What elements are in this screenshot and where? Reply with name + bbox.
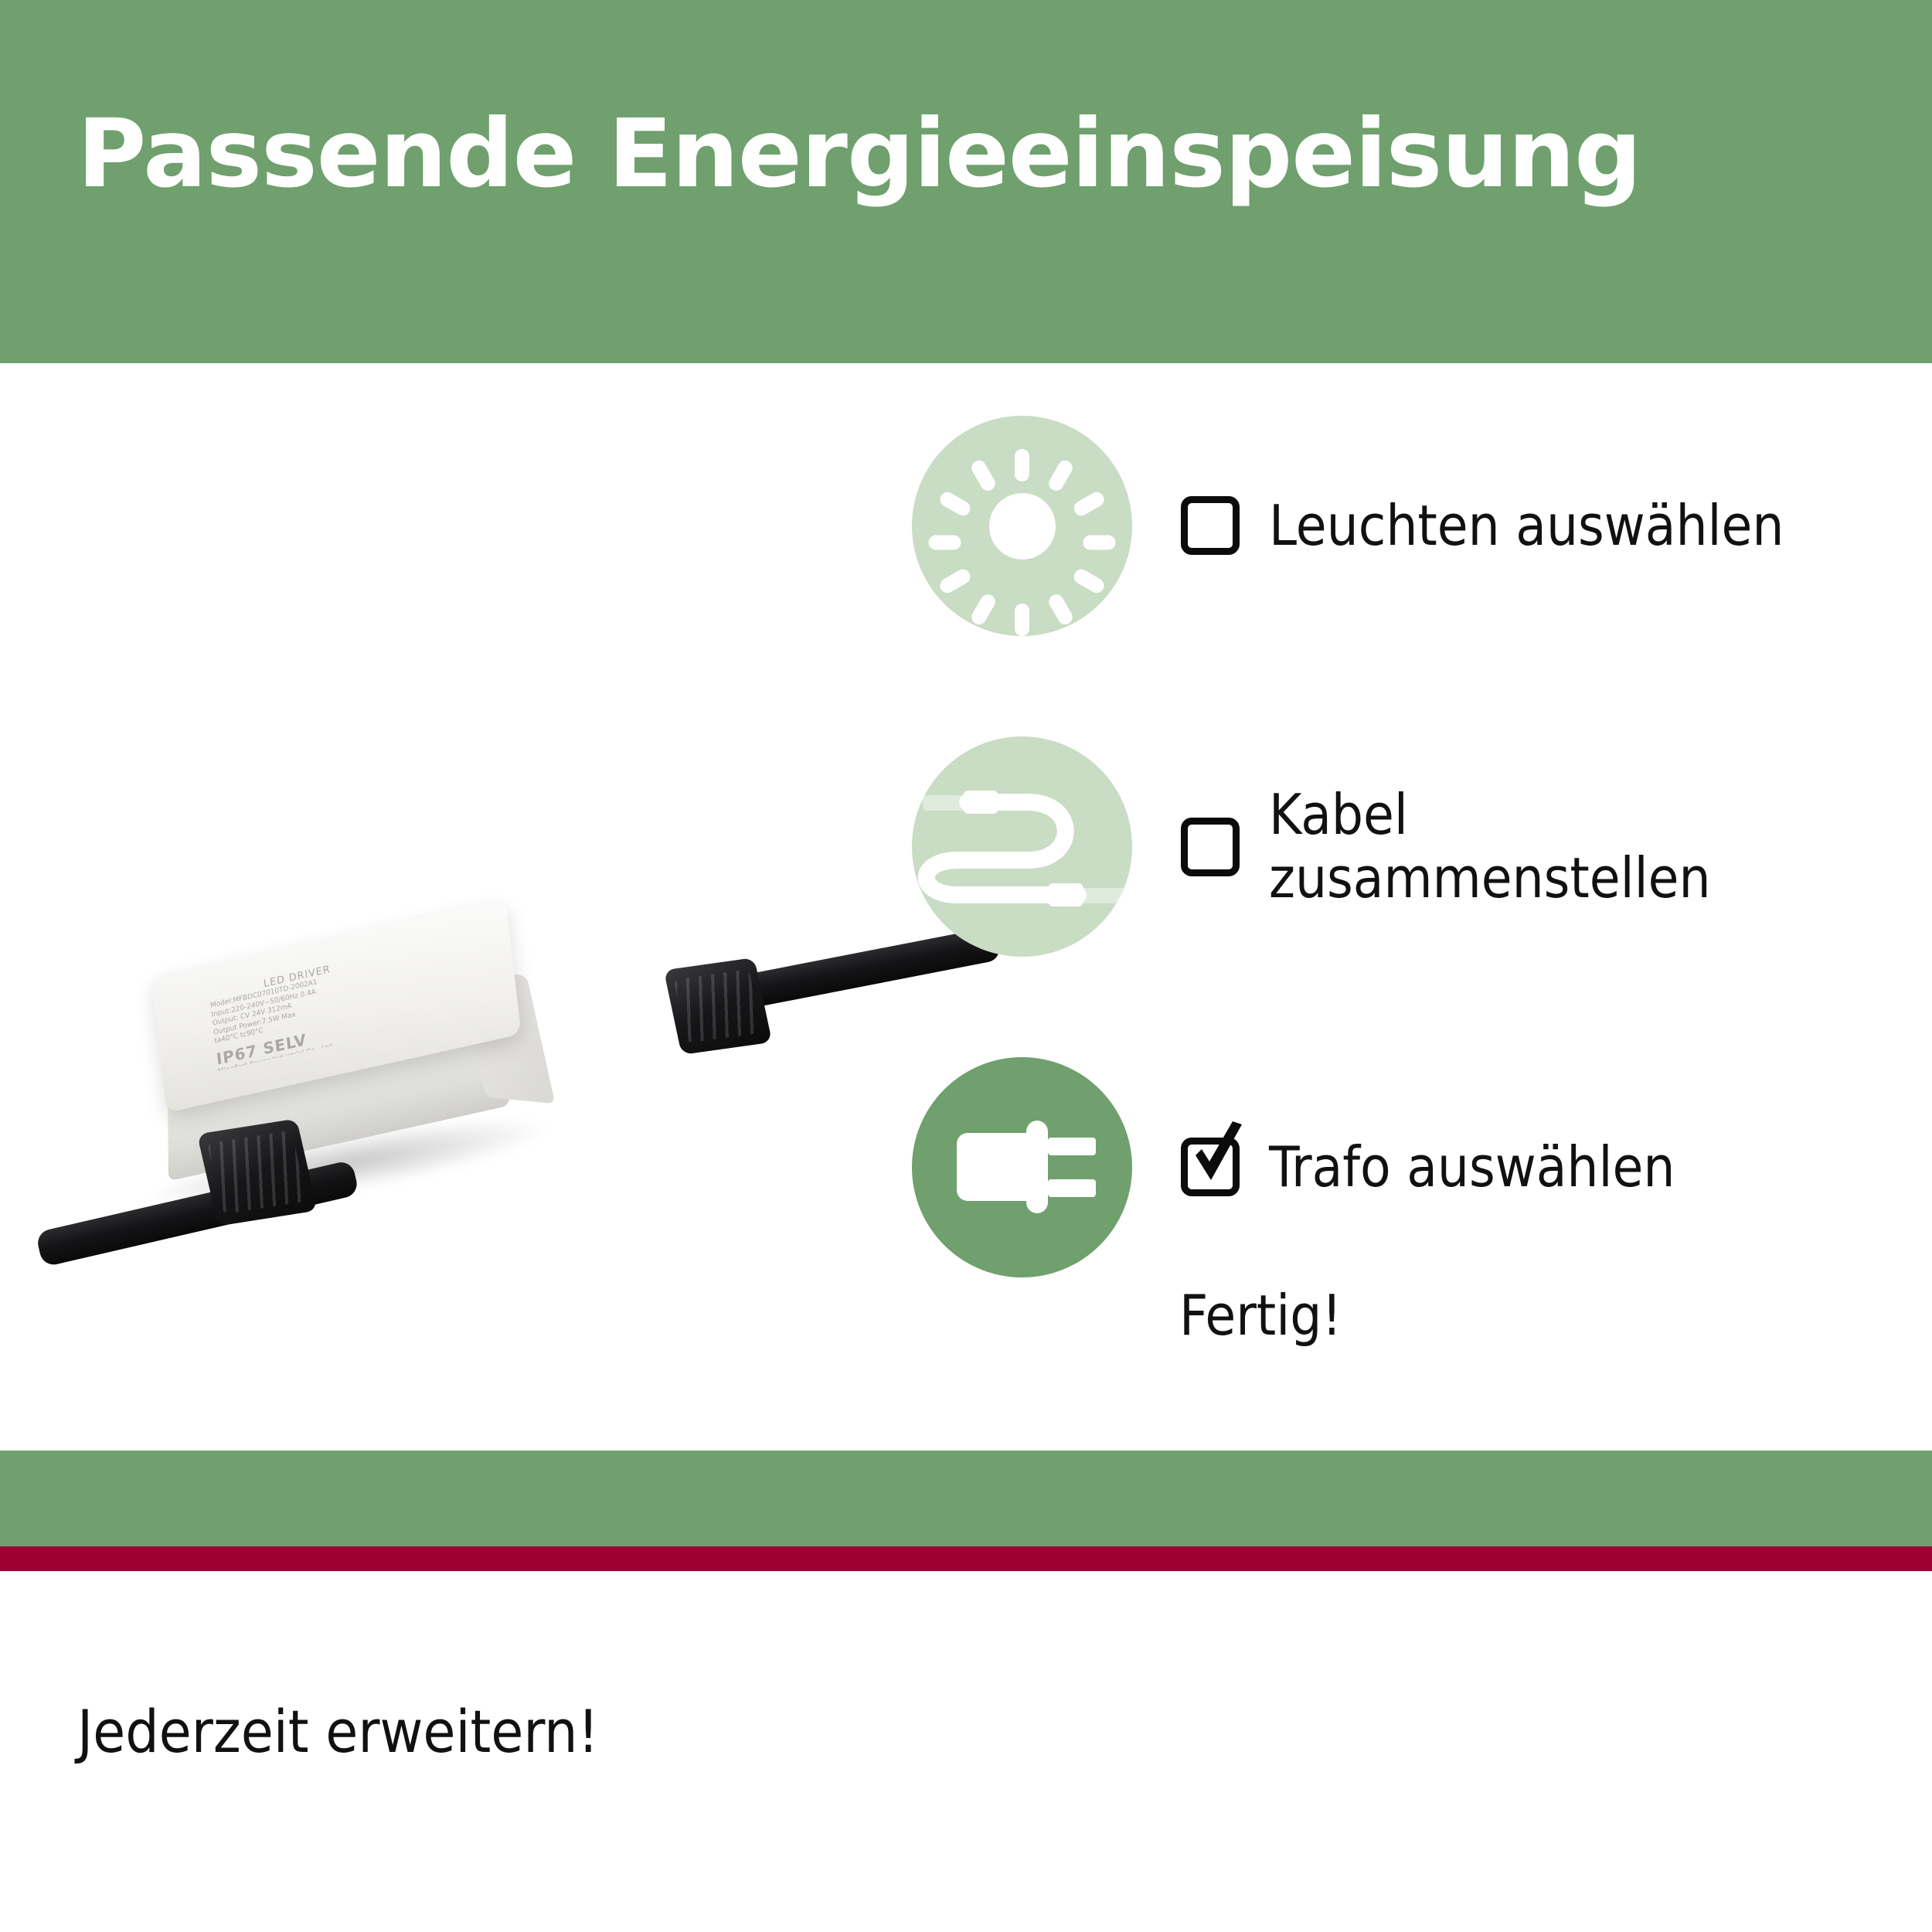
checkbox-leuchten[interactable] <box>1181 496 1240 555</box>
cable-icon-svg <box>912 736 1132 957</box>
step-row-leuchten: Leuchten auswählen <box>912 416 1901 636</box>
sun-ray <box>969 591 998 627</box>
step-row-trafo: Trafo auswählen <box>912 1057 1901 1277</box>
plug-neck <box>1026 1121 1048 1213</box>
sun-ray <box>1046 457 1075 493</box>
plug-icon <box>912 1057 1132 1277</box>
header-band: Passende Energieeinspeisung <box>0 0 1932 363</box>
sun-ray <box>1083 535 1116 549</box>
plug-pin-top <box>1048 1138 1096 1155</box>
step-right-leuchten: Leuchten auswählen <box>1181 495 1784 557</box>
sun-ray <box>1015 449 1029 481</box>
footer-text: Jederzeit erweitern! <box>77 1697 599 1766</box>
strain-relief-fins-right <box>674 969 763 1043</box>
plug-pin-bottom <box>1048 1179 1096 1197</box>
sun-ray <box>1046 591 1075 627</box>
strain-relief-left <box>197 1118 318 1226</box>
strain-relief-fins-left <box>207 1131 308 1215</box>
sun-ray <box>937 489 973 518</box>
product-photo: LED DRIVER Model:MFBDC07010TD-2002A1 Inp… <box>0 904 912 1275</box>
sun-ray <box>1015 604 1029 636</box>
footer-green-band <box>0 1451 1932 1546</box>
strain-relief-right <box>664 957 772 1055</box>
step-label-leuchten: Leuchten auswählen <box>1269 495 1784 557</box>
step-label-trafo: Trafo auswählen <box>1269 1136 1675 1199</box>
page-title: Passende Energieeinspeisung <box>77 107 1641 201</box>
steps-list: Leuchten auswählen <box>912 416 1901 1378</box>
step-label-kabel: Kabel zusammenstellen <box>1269 784 1711 910</box>
sun-icon <box>912 416 1132 636</box>
checkbox-kabel[interactable] <box>1181 818 1240 876</box>
cable-icon <box>912 736 1132 957</box>
sun-ray <box>969 457 998 493</box>
infographic-page: Passende Energieeinspeisung LED DRIVER M… <box>0 0 1932 1932</box>
footer-crimson-band <box>0 1546 1932 1571</box>
checkbox-trafo[interactable] <box>1181 1138 1240 1196</box>
step-right-trafo: Trafo auswählen <box>1181 1136 1675 1199</box>
check-icon <box>1189 1121 1247 1188</box>
sun-core <box>989 493 1056 560</box>
step-row-kabel: Kabel zusammenstellen <box>912 736 1901 957</box>
sun-ray <box>937 566 973 595</box>
step-right-kabel: Kabel zusammenstellen <box>1181 784 1711 910</box>
done-text: Fertig! <box>1179 1283 1342 1348</box>
sun-ray <box>929 535 961 549</box>
sun-ray <box>1071 566 1107 595</box>
sun-ray <box>1071 489 1107 518</box>
